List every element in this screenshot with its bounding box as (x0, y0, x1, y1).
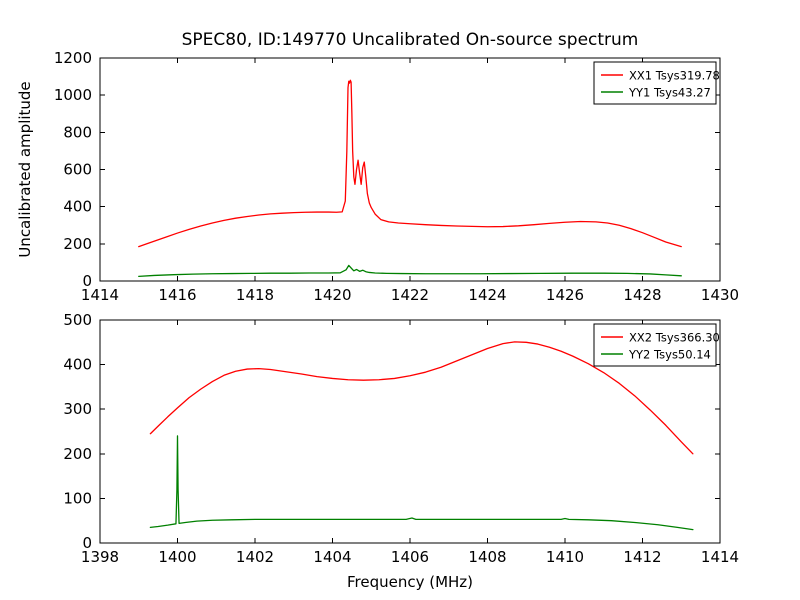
legend-label: XX1 Tsys319.78 (629, 69, 720, 83)
y-tick-label: 400 (63, 198, 92, 216)
y-tick-label: 1000 (54, 86, 92, 104)
x-tick-label: 1416 (158, 286, 196, 304)
x-axis-label: Frequency (MHz) (347, 573, 473, 591)
figure-container: SPEC80, ID:149770 Uncalibrated On-source… (0, 0, 800, 600)
y-tick-label: 0 (82, 534, 92, 552)
x-tick-label: 1426 (546, 286, 584, 304)
y-tick-label: 100 (63, 489, 92, 507)
x-tick-label: 1404 (313, 548, 351, 566)
x-tick-label: 1420 (313, 286, 351, 304)
legend-top: XX1 Tsys319.78YY1 Tsys43.27 (594, 62, 720, 104)
legend-label: XX2 Tsys366.30 (629, 331, 720, 345)
x-tick-label: 1412 (623, 548, 661, 566)
y-tick-label: 200 (63, 235, 92, 253)
trace-xx1 (139, 80, 682, 246)
x-tick-label: 1430 (701, 286, 739, 304)
trace-yy1 (139, 265, 682, 276)
x-tick-label: 1406 (391, 548, 429, 566)
x-tick-label: 1422 (391, 286, 429, 304)
page-title: SPEC80, ID:149770 Uncalibrated On-source… (182, 30, 639, 50)
panel-top: 1414141614181420142214241426142814300200… (16, 49, 739, 304)
y-axis-label: Uncalibrated amplitude (16, 81, 34, 257)
x-tick-label: 1428 (623, 286, 661, 304)
y-tick-label: 200 (63, 445, 92, 463)
y-tick-label: 1200 (54, 49, 92, 67)
legend-label: YY1 Tsys43.27 (628, 86, 711, 100)
y-tick-label: 500 (63, 311, 92, 329)
y-tick-label: 600 (63, 161, 92, 179)
x-tick-label: 1424 (468, 286, 506, 304)
y-tick-label: 400 (63, 356, 92, 374)
x-tick-label: 1410 (546, 548, 584, 566)
x-tick-label: 1418 (236, 286, 274, 304)
y-tick-label: 800 (63, 123, 92, 141)
x-tick-label: 1400 (158, 548, 196, 566)
y-tick-label: 0 (82, 272, 92, 290)
x-tick-label: 1402 (236, 548, 274, 566)
trace-yy2 (150, 436, 693, 530)
x-tick-label: 1408 (468, 548, 506, 566)
y-tick-label: 300 (63, 400, 92, 418)
panel-bottom: 1398140014021404140614081410141214140100… (63, 311, 739, 591)
legend-bottom: XX2 Tsys366.30YY2 Tsys50.14 (594, 324, 720, 366)
spectrum-plot-canvas: SPEC80, ID:149770 Uncalibrated On-source… (0, 0, 800, 600)
x-tick-label: 1414 (701, 548, 739, 566)
legend-label: YY2 Tsys50.14 (628, 348, 711, 362)
